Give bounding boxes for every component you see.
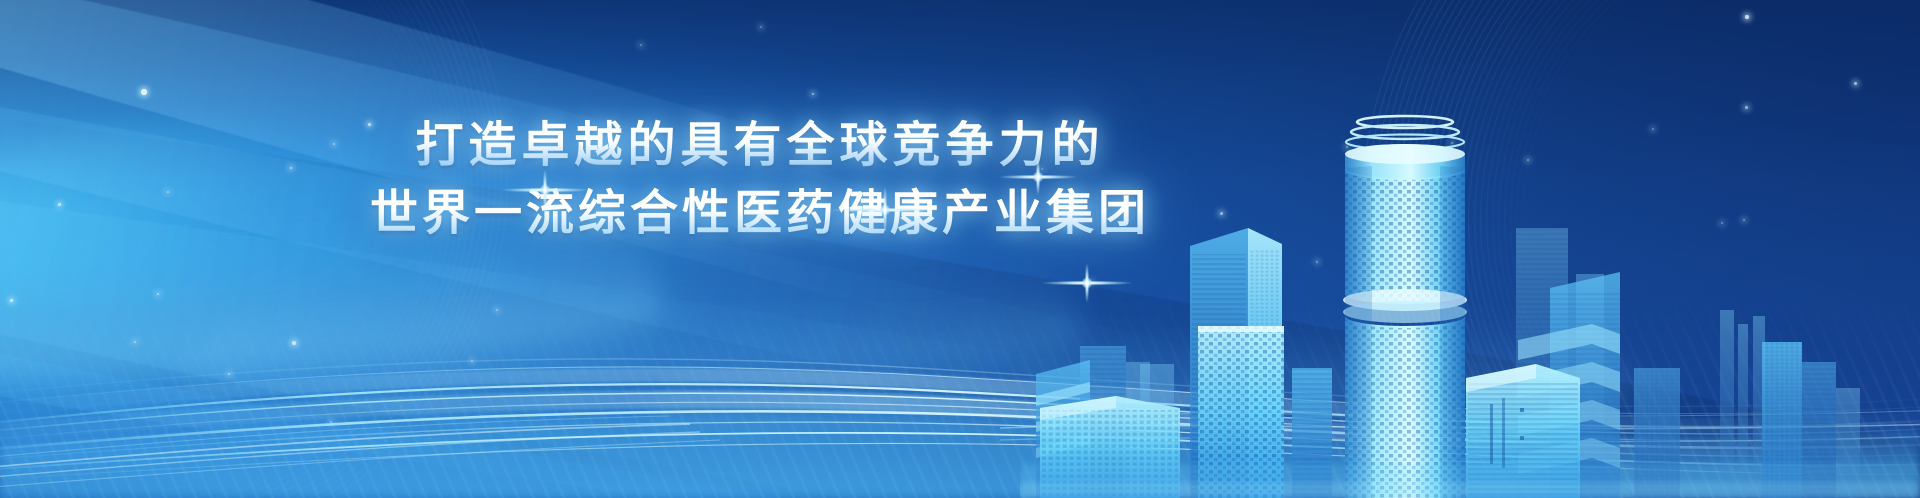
concentric-arc-ripple-left xyxy=(0,0,510,498)
light-particle xyxy=(1090,281,1092,283)
building-front-right-slab xyxy=(1466,364,1580,498)
headline-line-1: 打造卓越的具有全球竞争力的 xyxy=(0,112,1520,180)
background-left-glow xyxy=(0,0,1920,498)
diagonal-light-band-3 xyxy=(0,10,1385,498)
lens-flare-sparkle xyxy=(485,162,605,218)
light-particle xyxy=(228,373,230,375)
light-particle xyxy=(1854,82,1857,85)
diagonal-light-band-shadow xyxy=(0,70,1920,498)
light-particle xyxy=(1652,128,1654,130)
light-particle xyxy=(1527,159,1529,161)
light-particle xyxy=(1743,219,1745,221)
sparkle-field xyxy=(0,0,1920,498)
light-particle xyxy=(157,293,159,295)
lens-flare-sparkle xyxy=(1024,256,1150,310)
building-left-slab xyxy=(1080,346,1150,498)
background-base-gradient xyxy=(0,0,1920,498)
concentric-arc-ripple-right xyxy=(1360,0,1920,498)
light-particle xyxy=(471,360,473,362)
building-main-cylindrical-tower xyxy=(1343,116,1467,498)
light-particle xyxy=(368,123,371,126)
mist-shape-center xyxy=(178,231,1083,399)
light-particle xyxy=(1220,212,1223,215)
building-far-right-cluster xyxy=(1634,342,1860,498)
light-particle xyxy=(290,167,292,169)
light-particle xyxy=(1745,15,1749,19)
building-pixel-tower xyxy=(1198,326,1284,498)
lens-flare-sparkle xyxy=(984,152,1092,202)
background-top-shade xyxy=(0,0,1920,498)
headline-block: 打造卓越的具有全球竞争力的 世界一流综合性医药健康产业集团 xyxy=(0,112,1520,248)
light-particle xyxy=(141,89,147,95)
corporate-hero-banner: 打造卓越的具有全球竞争力的 世界一流综合性医药健康产业集团 xyxy=(0,0,1920,498)
light-particle xyxy=(640,44,642,46)
particle-field xyxy=(0,0,1920,498)
diagonal-light-band-2 xyxy=(0,0,1255,458)
light-particle xyxy=(1346,146,1348,148)
light-particle xyxy=(496,309,498,311)
flowing-light-wave-lines xyxy=(0,178,1920,498)
diagonal-light-band-1 xyxy=(0,0,1105,365)
mist-shape-upper-left xyxy=(0,120,420,300)
light-particle xyxy=(1745,106,1748,109)
light-particle xyxy=(812,93,814,95)
light-particle xyxy=(1316,261,1318,263)
mist-shape-left xyxy=(0,190,664,390)
city-skyline-silhouette xyxy=(1020,78,1920,498)
light-particle xyxy=(10,299,13,302)
background-bottom-glow xyxy=(0,0,1920,498)
light-particle xyxy=(1721,222,1723,224)
building-left-tall xyxy=(1190,228,1282,498)
headline-line-2: 世界一流综合性医药健康产业集团 xyxy=(0,180,1520,248)
diagonal-streak-texture xyxy=(0,278,1920,498)
background-right-shade xyxy=(0,0,1920,498)
light-particle xyxy=(58,203,61,206)
light-particle xyxy=(330,421,332,423)
light-particle xyxy=(134,341,136,343)
vignette-overlay xyxy=(0,0,1920,498)
light-particle xyxy=(1451,142,1453,144)
mist-shape-right xyxy=(639,286,1642,434)
skyline-background-buildings xyxy=(1140,228,1765,498)
building-mid-slim xyxy=(1292,368,1332,498)
lens-flare-sparkle xyxy=(810,178,960,242)
light-particle xyxy=(292,341,296,345)
light-particle xyxy=(167,191,169,193)
light-particle xyxy=(333,143,335,145)
building-right-chevron xyxy=(1518,272,1620,498)
building-front-left-block xyxy=(1040,396,1180,498)
building-chevron-stepped xyxy=(1036,360,1090,498)
diagonal-light-band-4 xyxy=(0,120,1557,498)
light-particle xyxy=(1041,168,1043,170)
light-particle xyxy=(760,26,762,28)
